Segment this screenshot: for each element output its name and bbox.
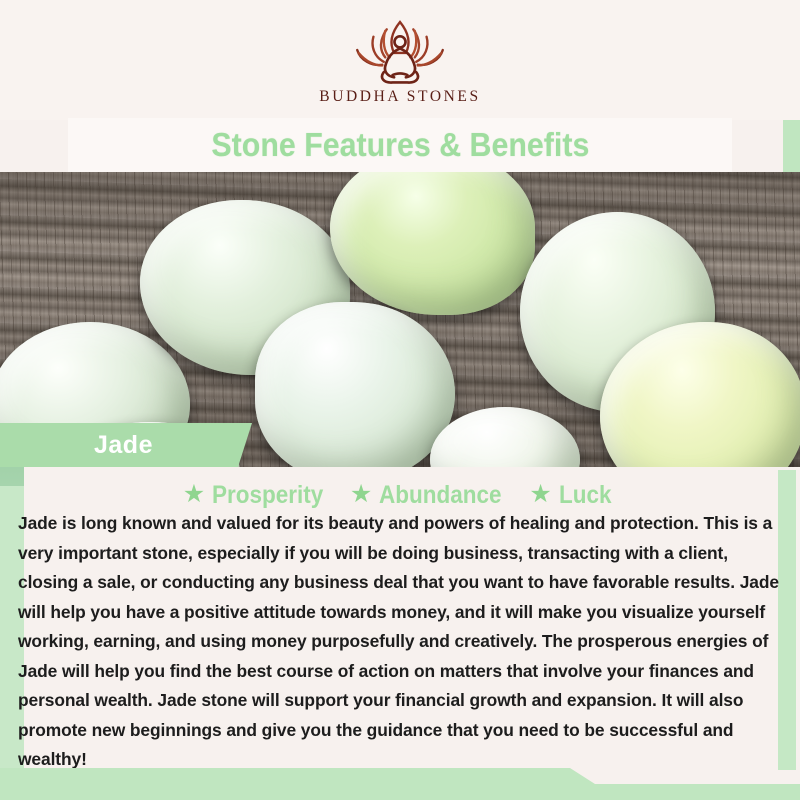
star-icon: ★ [183,482,205,507]
stone-name-badge: Jade [0,423,252,467]
benefit-item-prosperity: ★ Prosperity [183,481,336,510]
page-title: Stone Features & Benefits [211,126,589,164]
brand-wordmark: BUDDHA STONES [319,88,480,106]
benefit-label: Prosperity [212,481,323,510]
benefit-item-luck: ★ Luck [529,481,617,510]
benefit-label: Abundance [379,481,502,510]
stone-name-label: Jade [94,431,153,460]
star-icon: ★ [350,482,372,507]
infographic-card: BUDDHA STONES Stone Features & Benefits … [0,0,800,800]
decor-block-bottom-left [0,768,620,800]
benefit-label: Luck [559,481,612,510]
title-banner: Stone Features & Benefits [68,118,732,172]
description-text: Jade is long known and valued for its be… [18,509,782,775]
star-icon: ★ [529,482,551,507]
brand-header: BUDDHA STONES [0,0,800,120]
benefit-item-abundance: ★ Abundance [350,481,516,510]
lotus-meditation-icon [341,14,459,86]
stone-photo [0,172,800,467]
benefits-row: ★ Prosperity ★ Abundance ★ Luck [0,481,800,510]
